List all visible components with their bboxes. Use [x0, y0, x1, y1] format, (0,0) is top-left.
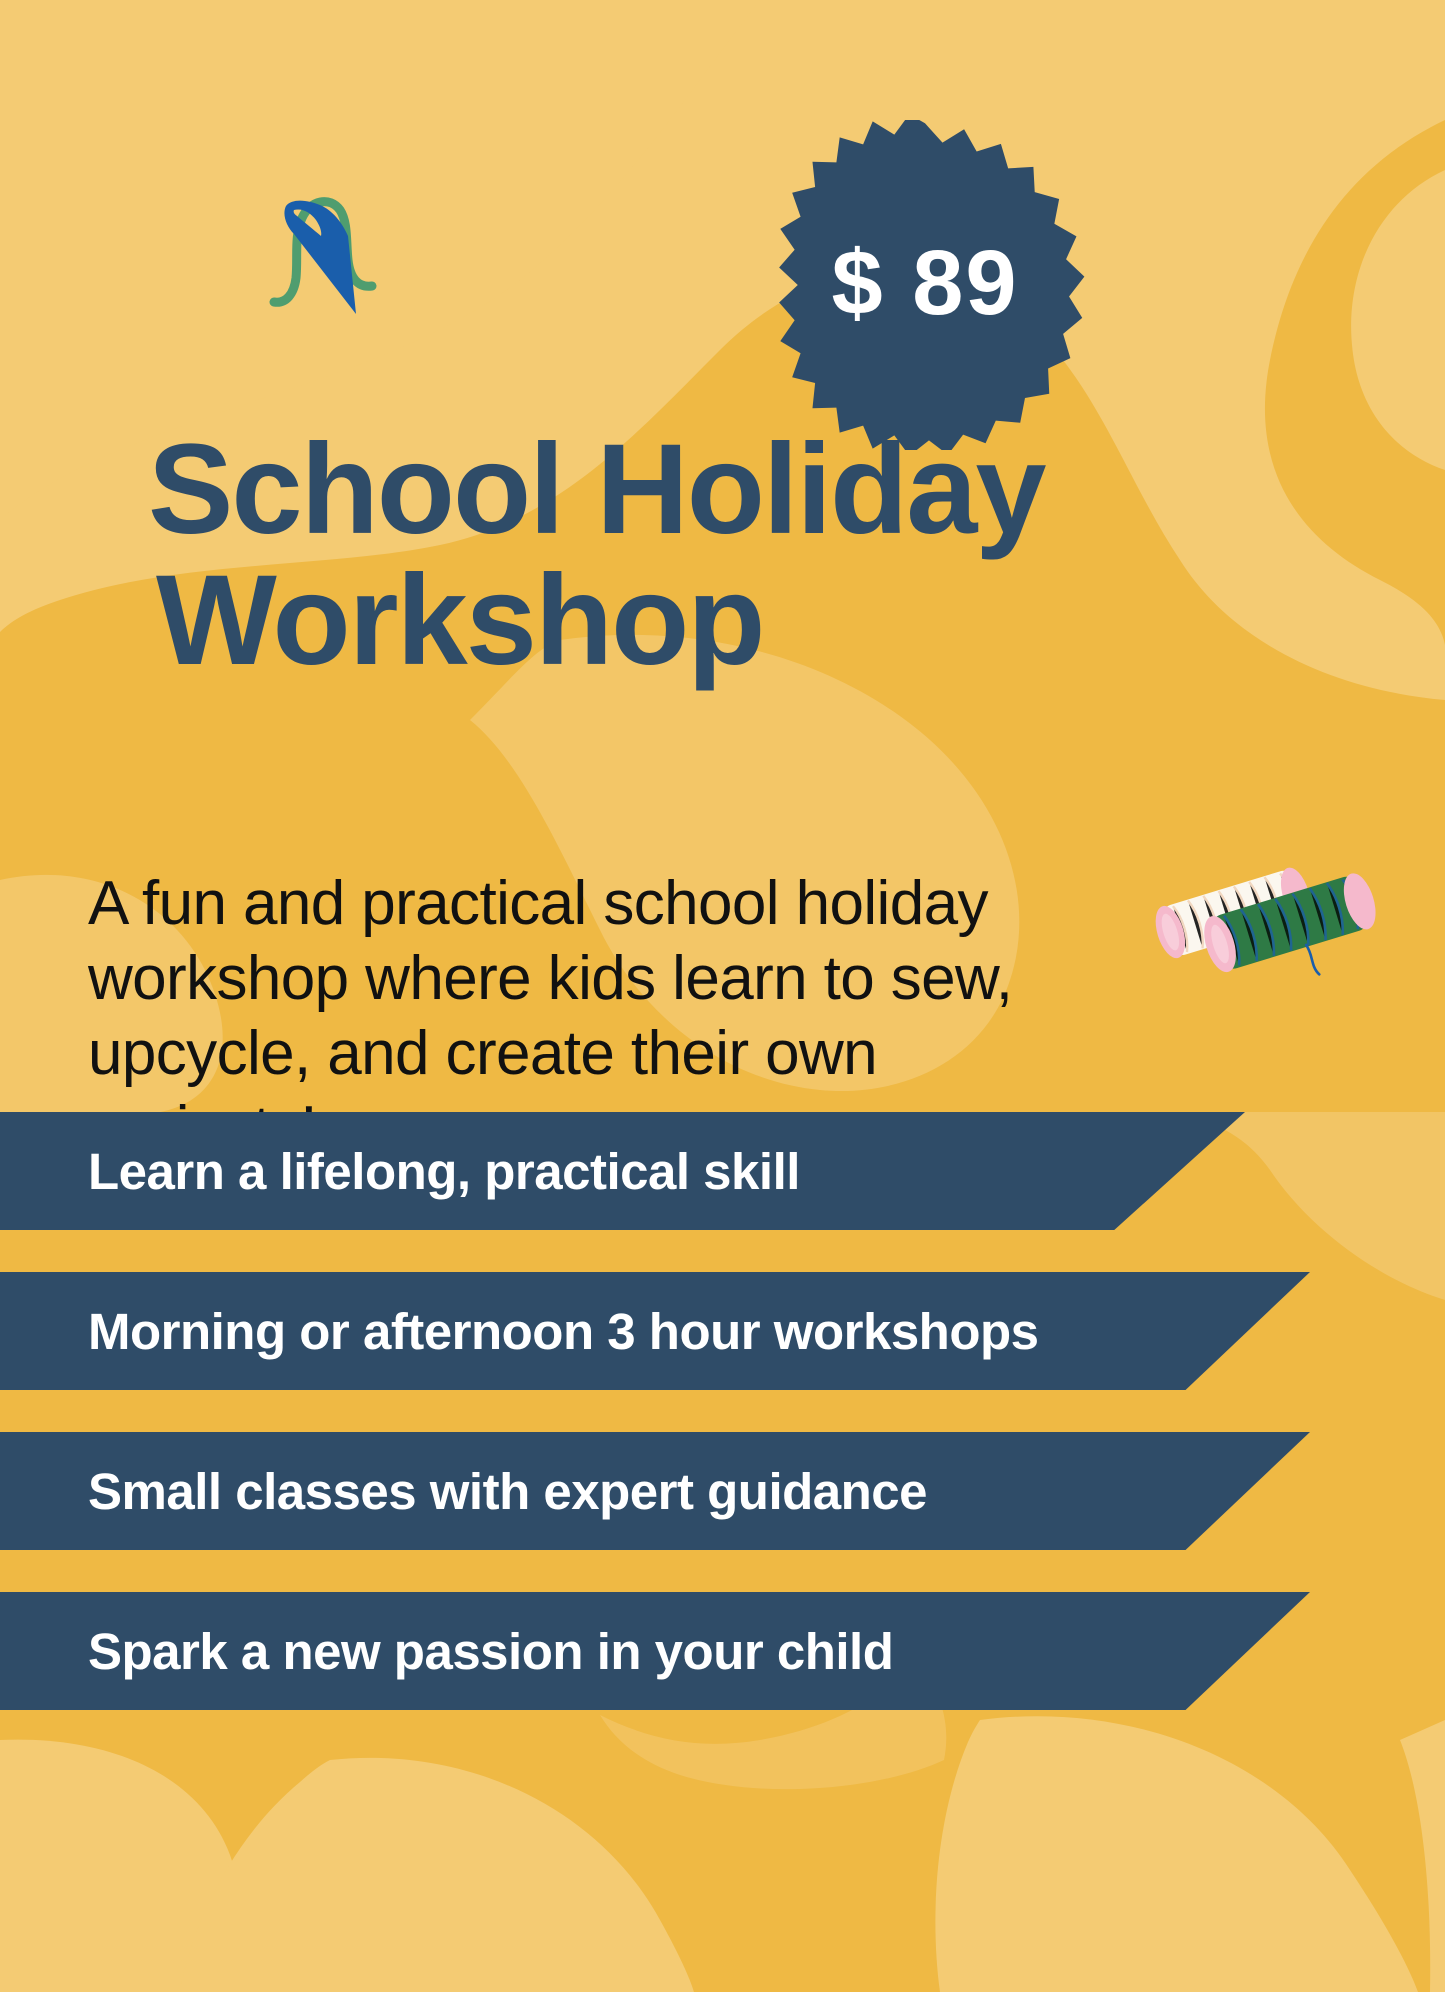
feature-banner: Small classes with expert guidance — [0, 1432, 1310, 1550]
thread-spools-illustration — [1148, 840, 1378, 990]
feature-banner-label: Morning or afternoon 3 hour workshops — [0, 1302, 1039, 1361]
feature-banner-label: Small classes with expert guidance — [0, 1462, 927, 1521]
feature-banner: Learn a lifelong, practical skill — [0, 1112, 1245, 1230]
needle-and-thread-logo — [252, 178, 412, 318]
feature-banner-label: Learn a lifelong, practical skill — [0, 1142, 800, 1201]
poster-canvas: $ 89 School Holiday Workshop A fun and p… — [0, 0, 1445, 1992]
feature-banner: Spark a new passion in your child — [0, 1592, 1310, 1710]
feature-banner: Morning or afternoon 3 hour workshops — [0, 1272, 1310, 1390]
feature-banner-label: Spark a new passion in your child — [0, 1622, 893, 1681]
price-badge-text: $ 89 — [760, 118, 1090, 448]
page-title-line-2: Workshop — [148, 556, 1308, 687]
page-title: School Holiday Workshop — [148, 425, 1308, 686]
page-title-line-1: School Holiday — [148, 425, 1308, 556]
price-badge: $ 89 — [760, 120, 1090, 450]
